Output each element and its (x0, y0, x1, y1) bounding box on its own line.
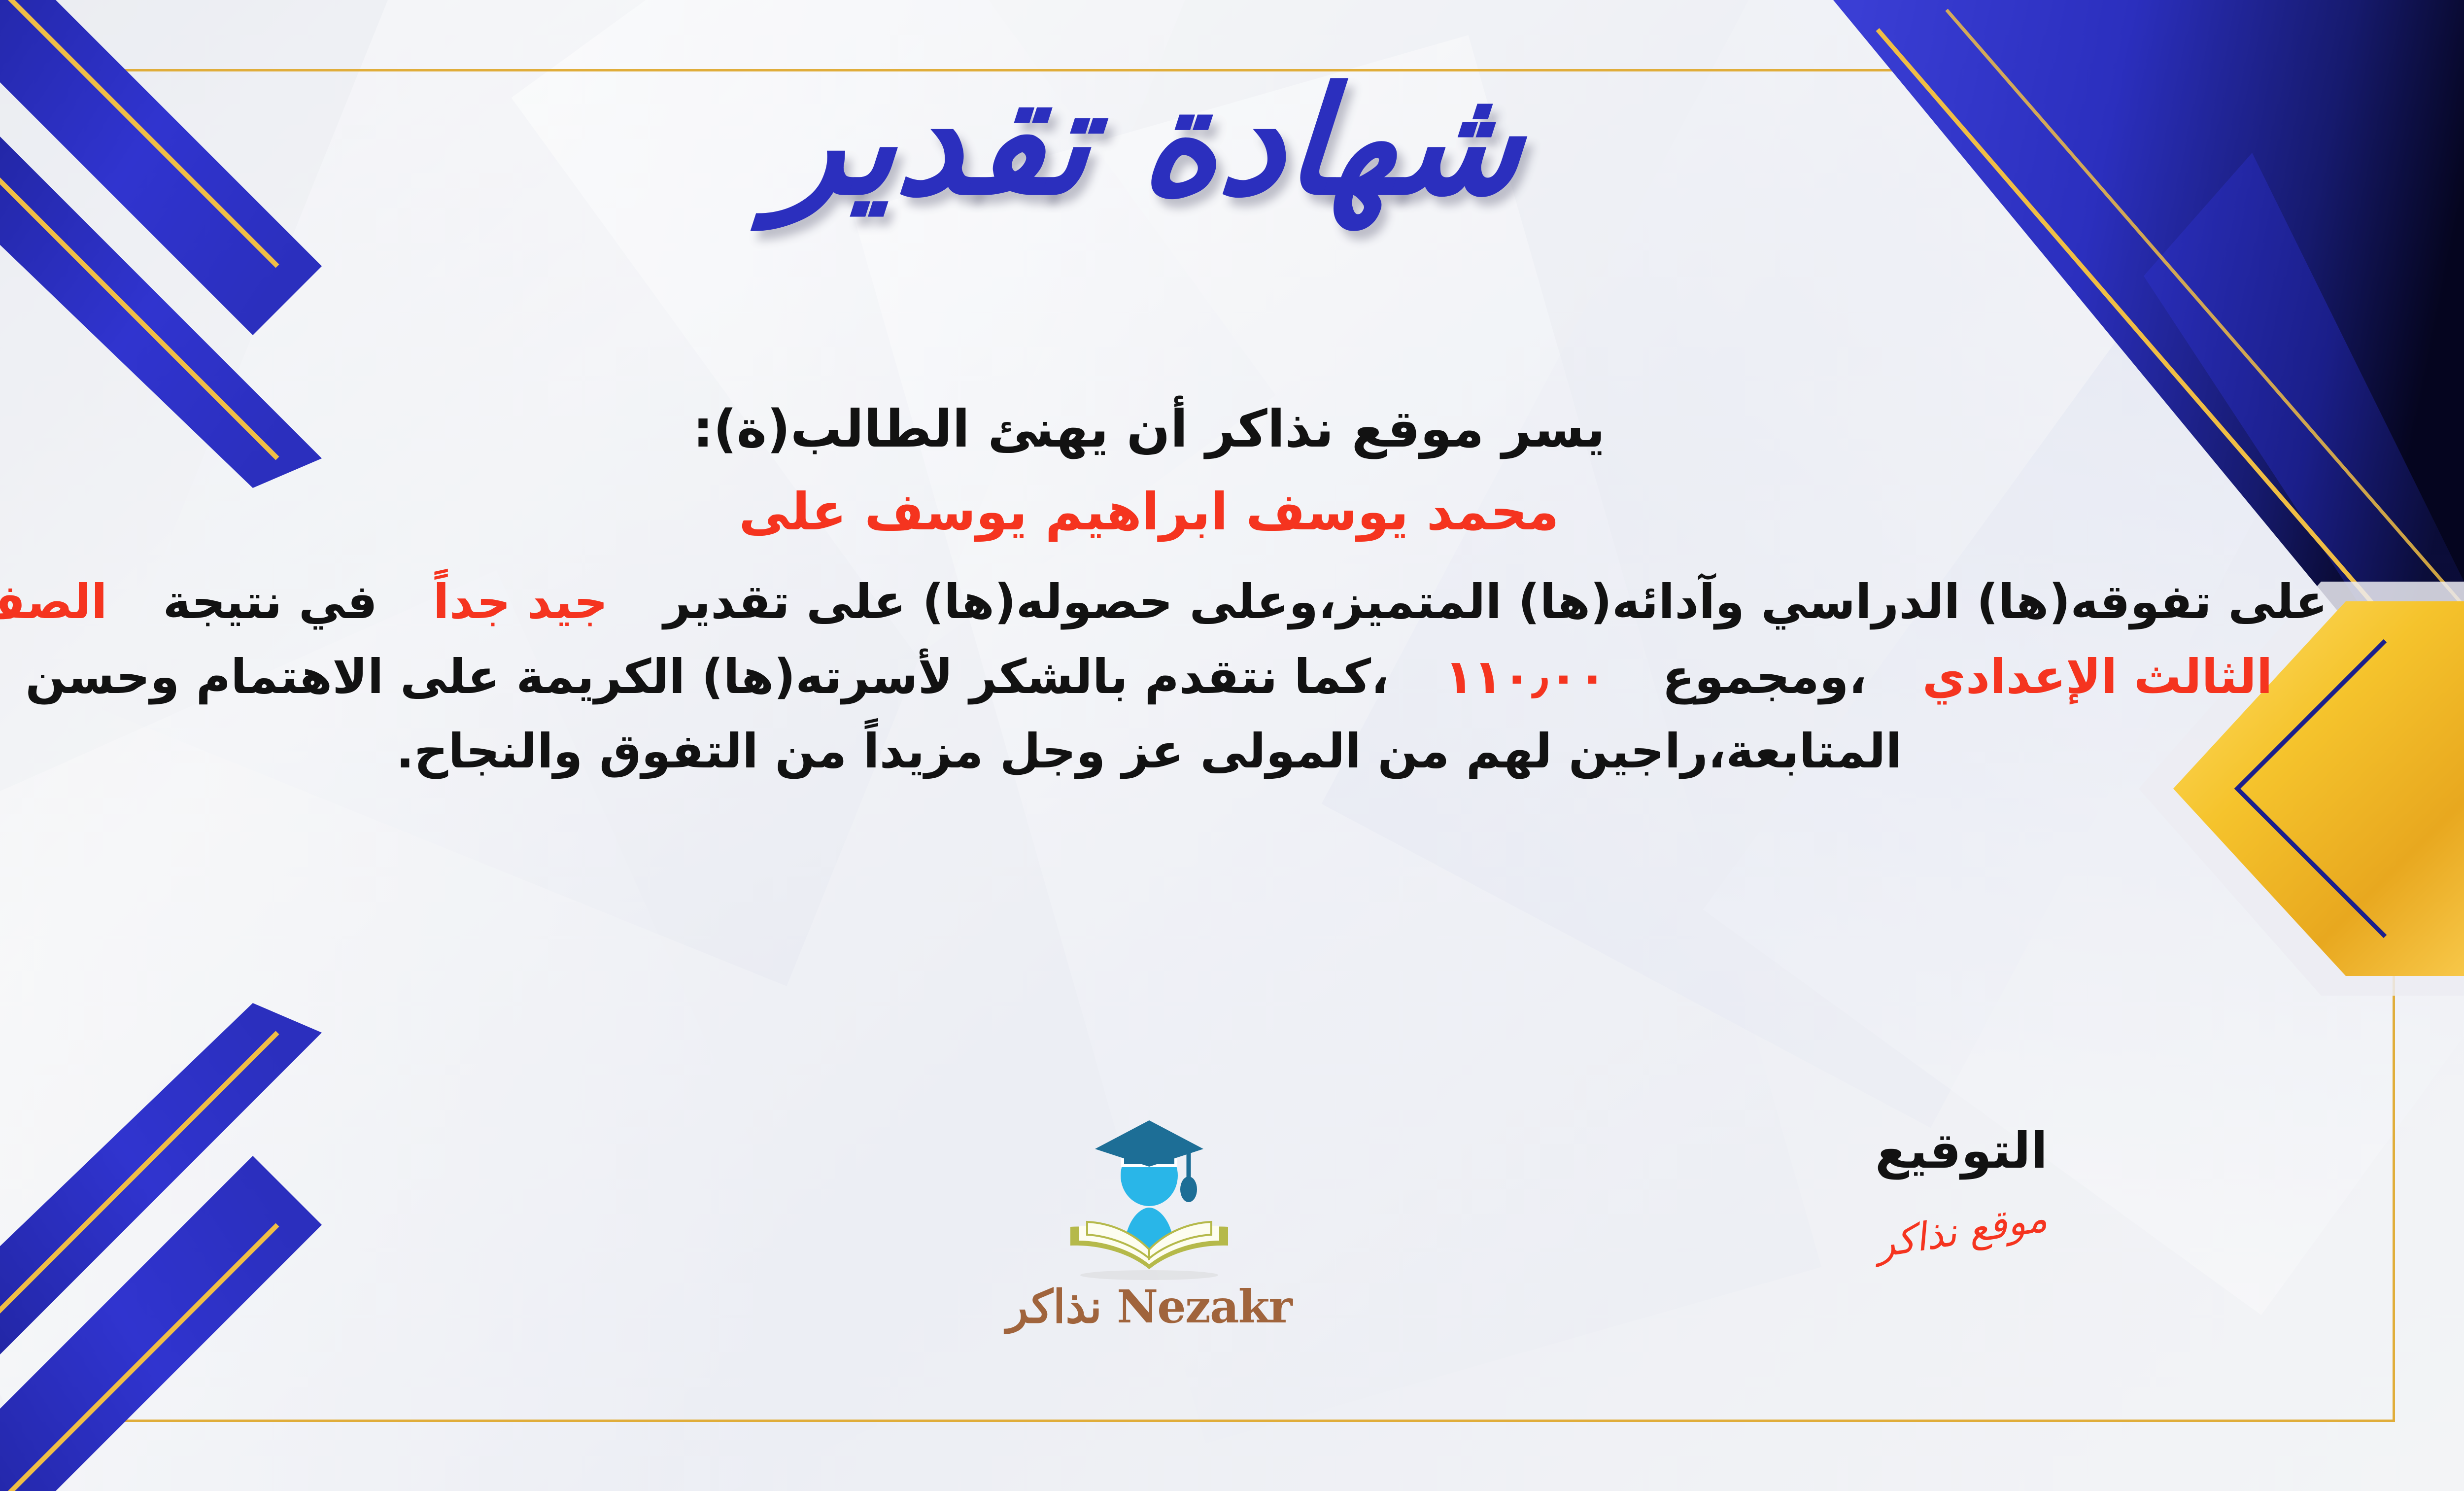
achievement-text-part2: في نتيجة (163, 574, 377, 629)
achievement-text-part4: ،كما نتقدم بالشكر لأسرته(ها) (702, 649, 1389, 704)
grade-value: جيد جداً (433, 574, 608, 629)
graduate-book-logo-icon (1041, 1102, 1258, 1289)
certificate-body: يسر موقع نذاكر أن يهنئ الطالب(ة): محمد ي… (0, 394, 2336, 789)
brand-logo: Nezakr نذاكر (992, 1102, 1307, 1333)
total-score-value: ١١٠٫٠٠ (1444, 649, 1607, 704)
signature-script: موقع نذاكر (1873, 1196, 2050, 1267)
brand-name: Nezakr نذاكر (992, 1280, 1307, 1333)
certificate-footer: التوقيع موقع نذاكر (0, 1092, 2365, 1407)
student-name: محمد يوسف ابراهيم يوسف على (0, 476, 2336, 548)
signature-area: التوقيع موقع نذاكر (1833, 1121, 2089, 1253)
page-title: شهادة تقدير (749, 49, 1549, 234)
achievement-text-part3: ،ومجموع (1662, 649, 1867, 704)
achievement-paragraph: على تفوقه(ها) الدراسي وآدائه(ها) المتميز… (0, 565, 2336, 789)
certificate-page: شهادة تقدير يسر موقع نذاكر أن يهنئ الطال… (0, 0, 2464, 1491)
certificate-title-area: شهادة تقدير (0, 49, 2464, 234)
signature-label: التوقيع (1833, 1121, 2089, 1180)
intro-line: يسر موقع نذاكر أن يهنئ الطالب(ة): (0, 394, 2336, 463)
achievement-text-part1: على تفوقه(ها) الدراسي وآدائه(ها) المتميز… (663, 574, 2327, 629)
achievement-text-part6: مزيداً من التفوق والنجاح. (396, 724, 984, 779)
